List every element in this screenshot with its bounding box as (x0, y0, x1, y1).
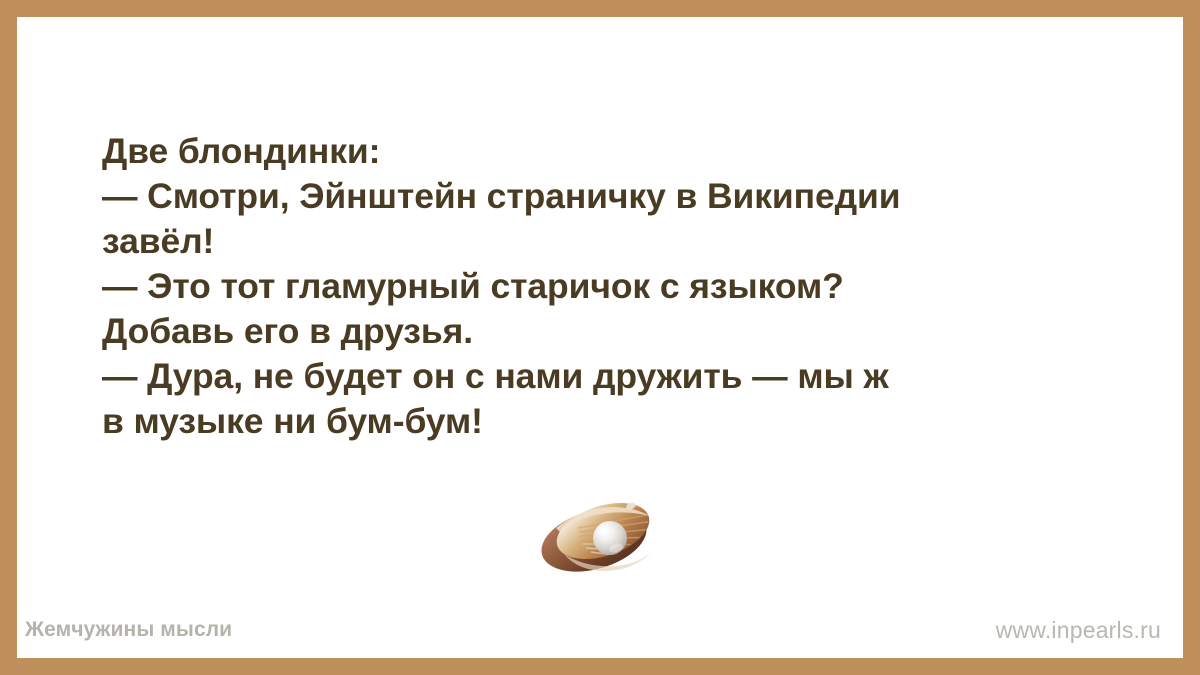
emblem-container (17, 487, 1183, 583)
footer: Жемчужины мысли www.inpearls.ru (17, 610, 1183, 650)
pearl-in-shell-icon (534, 498, 666, 572)
quote-line-7: в музыке ни бум-бум! (102, 399, 1112, 444)
quote-card: Две блондинки: — Смотри, Эйнштейн страни… (0, 0, 1200, 675)
footer-site-url[interactable]: www.inpearls.ru (996, 617, 1173, 644)
quote-line-1: Две блондинки: (102, 129, 1112, 174)
card-inner: Две блондинки: — Смотри, Эйнштейн страни… (17, 17, 1183, 658)
footer-brand: Жемчужины мысли (25, 618, 232, 642)
quote-line-3: завёл! (102, 219, 1112, 264)
quote-line-2: — Смотри, Эйнштейн страничку в Википедии (102, 174, 1112, 219)
quote-text: Две блондинки: — Смотри, Эйнштейн страни… (102, 129, 1112, 444)
quote-line-6: — Дура, не будет он с нами дружить — мы … (102, 354, 1112, 399)
quote-line-4: — Это тот гламурный старичок с языком? (102, 264, 1112, 309)
quote-line-5: Добавь его в друзья. (102, 309, 1112, 354)
